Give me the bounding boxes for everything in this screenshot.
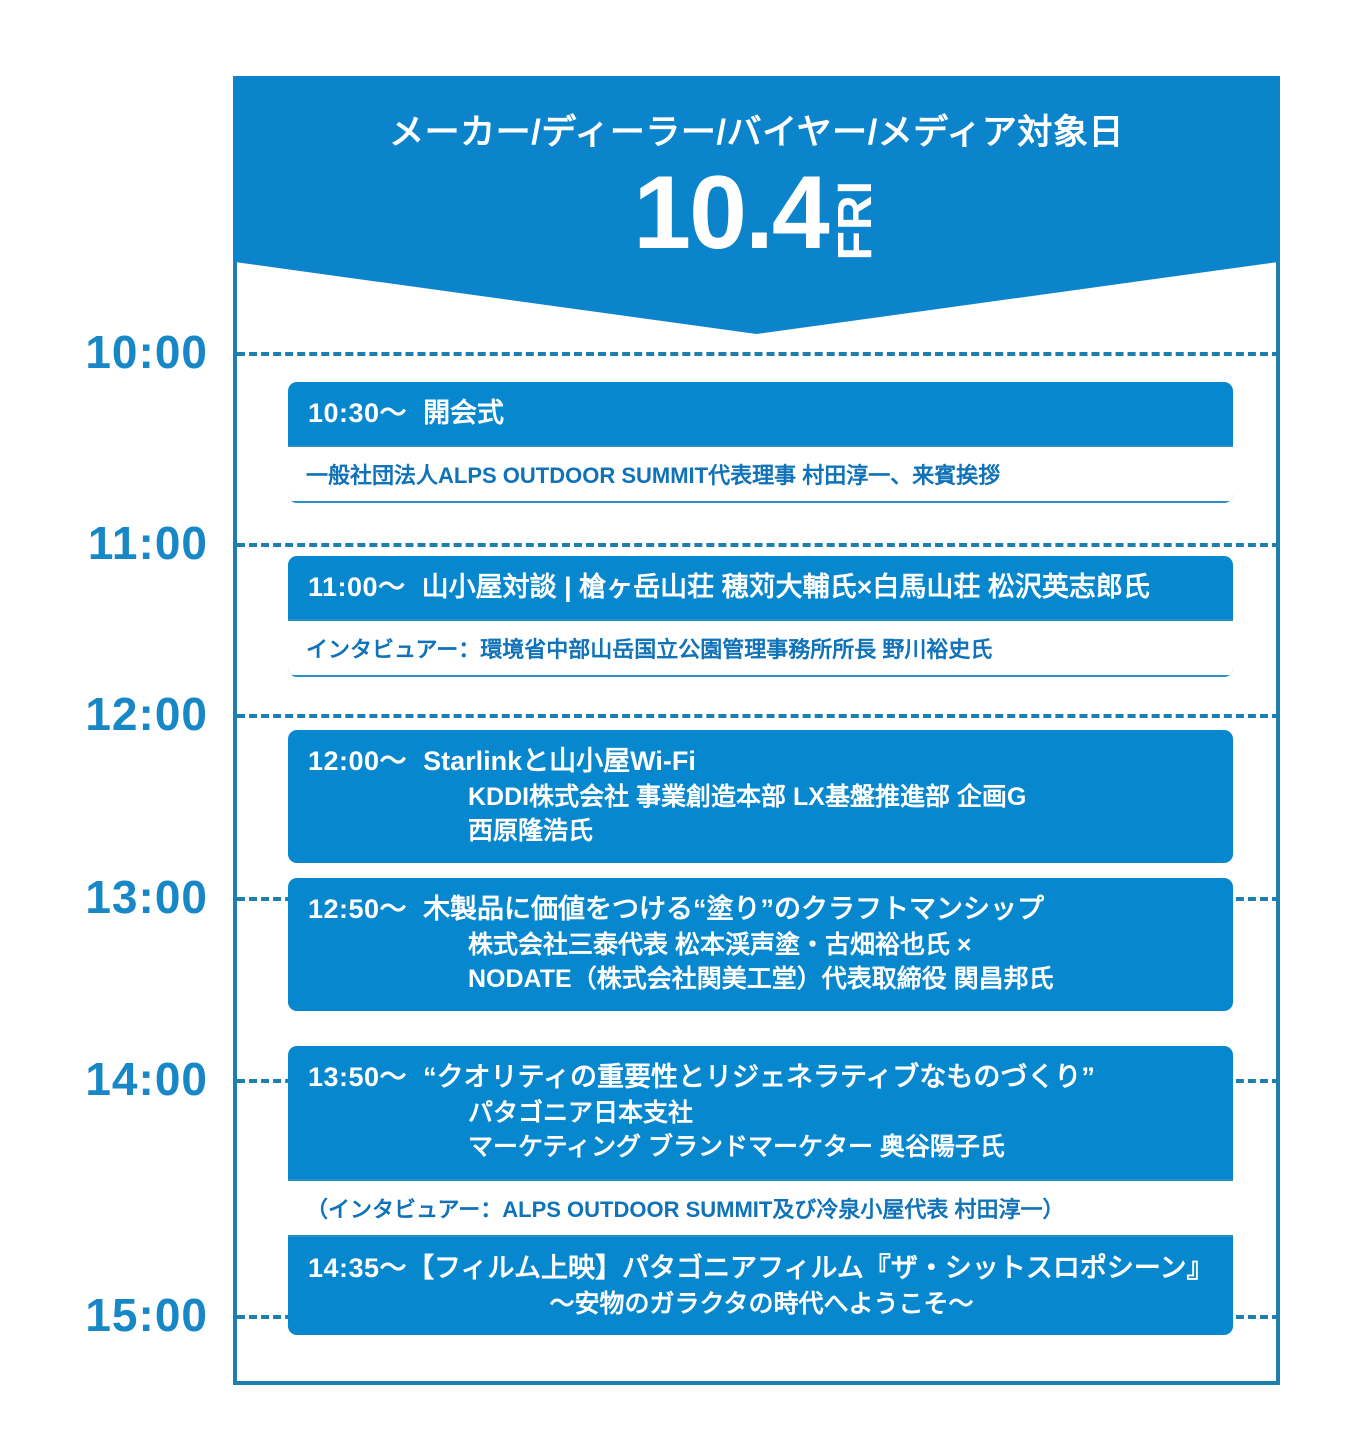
event-sublines-1200: KDDI株式会社 事業創造本部 LX基盤推進部 企画G 西原隆浩氏 <box>308 781 1215 849</box>
event-title-1200: Starlinkと山小屋Wi-Fi <box>423 746 696 776</box>
hour-gridline-1000 <box>237 352 1280 356</box>
event-subline: 西原隆浩氏 <box>468 815 1215 849</box>
hour-label-1000: 10:00 <box>85 325 208 379</box>
event-card-1350[interactable]: 13:50〜“クオリティの重要性とリジェネラティブなものづくり” パタゴニア日本… <box>288 1046 1233 1335</box>
event-main-1250: 12:50〜木製品に価値をつける“塗り”のクラフトマンシップ 株式会社三泰代表 … <box>288 878 1233 1011</box>
event-card-1250[interactable]: 12:50〜木製品に価値をつける“塗り”のクラフトマンシップ 株式会社三泰代表 … <box>288 878 1233 1011</box>
event-main-1030: 10:30〜開会式 <box>288 382 1233 445</box>
event-title-1435: 【フィルム上映】パタゴニアフィルム『ザ・シットスロポシーン』 <box>407 1253 1214 1283</box>
banner-day-of-week: FRI <box>832 180 880 260</box>
banner-date-number: 10.4 <box>633 164 827 263</box>
event-card-1100[interactable]: 11:00〜山小屋対談 | 槍ヶ岳山荘 穂苅大輔氏×白馬山荘 松沢英志郎氏 イン… <box>288 556 1233 677</box>
schedule-page: メーカー/ディーラー/バイヤー/メディア対象日 10.4 FRI 10:00 1… <box>0 0 1360 1454</box>
hour-gridline-1100 <box>237 543 1280 547</box>
event-main-1100: 11:00〜山小屋対談 | 槍ヶ岳山荘 穂苅大輔氏×白馬山荘 松沢英志郎氏 <box>288 556 1233 619</box>
event-subline: マーケティング ブランドマーケター 奥谷陽子氏 <box>468 1131 1215 1165</box>
event-time-1250: 12:50〜 <box>308 894 407 924</box>
event-sublines-1350: パタゴニア日本支社 マーケティング ブランドマーケター 奥谷陽子氏 <box>308 1097 1215 1165</box>
hour-label-1500: 15:00 <box>85 1288 208 1342</box>
hour-label-1400: 14:00 <box>85 1052 208 1106</box>
event-subline: パタゴニア日本支社 <box>468 1097 1215 1131</box>
event-subline: KDDI株式会社 事業創造本部 LX基盤推進部 企画G <box>468 781 1215 815</box>
banner-date: 10.4 FRI <box>233 164 1280 263</box>
event-note-1350: （インタビュアー：ALPS OUTDOOR SUMMIT及び冷泉小屋代表 村田淳… <box>288 1179 1233 1237</box>
event-title-1250: 木製品に価値をつける“塗り”のクラフトマンシップ <box>423 894 1044 924</box>
event-main-1435: 14:35〜【フィルム上映】パタゴニアフィルム『ザ・シットスロポシーン』 〜安物… <box>288 1237 1233 1336</box>
event-time-1435: 14:35〜 <box>308 1253 407 1283</box>
event-title-1100: 山小屋対談 | 槍ヶ岳山荘 穂苅大輔氏×白馬山荘 松沢英志郎氏 <box>422 572 1150 602</box>
event-headline-1435: 14:35〜【フィルム上映】パタゴニアフィルム『ザ・シットスロポシーン』 <box>308 1251 1215 1286</box>
event-note-1030: 一般社団法人ALPS OUTDOOR SUMMIT代表理事 村田淳一、来賓挨拶 <box>288 445 1233 503</box>
hour-label-1100: 11:00 <box>88 516 208 570</box>
event-headline-1200: 12:00〜Starlinkと山小屋Wi-Fi <box>308 744 1215 779</box>
event-headline-1250: 12:50〜木製品に価値をつける“塗り”のクラフトマンシップ <box>308 892 1215 927</box>
event-time-1030: 10:30〜 <box>308 398 407 428</box>
event-headline-1350: 13:50〜“クオリティの重要性とリジェネラティブなものづくり” <box>308 1060 1215 1095</box>
hour-label-1300: 13:00 <box>85 870 208 924</box>
event-subline: NODATE（株式会社関美工堂）代表取締役 関昌邦氏 <box>468 963 1215 997</box>
event-main-1350: 13:50〜“クオリティの重要性とリジェネラティブなものづくり” パタゴニア日本… <box>288 1046 1233 1179</box>
event-title-1030: 開会式 <box>423 398 504 428</box>
event-headline-1030: 10:30〜開会式 <box>308 396 1215 431</box>
event-time-1350: 13:50〜 <box>308 1062 407 1092</box>
event-sublines-1435: 〜安物のガラクタの時代へようこそ〜 <box>308 1288 1215 1322</box>
event-note-1100: インタビュアー：環境省中部山岳国立公園管理事務所所長 野川裕史氏 <box>288 619 1233 677</box>
event-time-1200: 12:00〜 <box>308 746 407 776</box>
event-title-1350: “クオリティの重要性とリジェネラティブなものづくり” <box>423 1062 1095 1092</box>
event-time-1100: 11:00〜 <box>308 572 406 602</box>
event-headline-1100: 11:00〜山小屋対談 | 槍ヶ岳山荘 穂苅大輔氏×白馬山荘 松沢英志郎氏 <box>308 570 1215 605</box>
banner-audience-title: メーカー/ディーラー/バイヤー/メディア対象日 <box>233 104 1280 155</box>
event-sublines-1250: 株式会社三泰代表 松本渓声塗・古畑裕也氏 × NODATE（株式会社関美工堂）代… <box>308 929 1215 997</box>
hour-label-1200: 12:00 <box>85 687 208 741</box>
event-card-1030[interactable]: 10:30〜開会式 一般社団法人ALPS OUTDOOR SUMMIT代表理事 … <box>288 382 1233 503</box>
event-main-1200: 12:00〜Starlinkと山小屋Wi-Fi KDDI株式会社 事業創造本部 … <box>288 730 1233 863</box>
event-subline: 株式会社三泰代表 松本渓声塗・古畑裕也氏 × <box>468 929 1215 963</box>
event-card-1200[interactable]: 12:00〜Starlinkと山小屋Wi-Fi KDDI株式会社 事業創造本部 … <box>288 730 1233 863</box>
hour-gridline-1200 <box>237 714 1280 718</box>
event-subline: 〜安物のガラクタの時代へようこそ〜 <box>308 1288 1215 1322</box>
